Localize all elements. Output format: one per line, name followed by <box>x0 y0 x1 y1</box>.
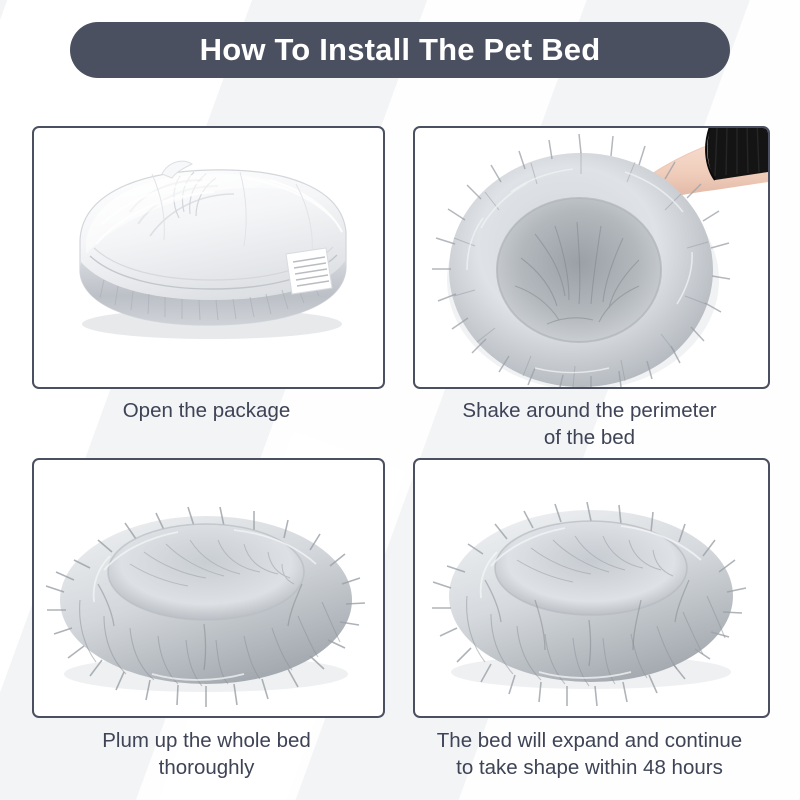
package-label <box>286 248 332 294</box>
page-title: How To Install The Pet Bed <box>200 32 601 68</box>
step-caption-3: Plum up the whole bed thoroughly <box>32 727 381 781</box>
caption-line: Open the package <box>32 397 381 424</box>
caption-line: Plum up the whole bed <box>32 727 381 754</box>
hand-shaking-pet-bed-image <box>415 128 768 387</box>
step-caption-1: Open the package <box>32 397 381 424</box>
step-card-4 <box>413 458 770 718</box>
step-card-1 <box>32 126 385 389</box>
caption-line: The bed will expand and continue <box>398 727 781 754</box>
step-caption-4: The bed will expand and continue to take… <box>398 727 781 781</box>
step-card-2 <box>413 126 770 389</box>
fluffed-pet-bed-image <box>34 460 383 716</box>
caption-line: thoroughly <box>32 754 381 781</box>
step-caption-2: Shake around the perimeter of the bed <box>405 397 774 451</box>
expanded-pet-bed-image <box>415 460 768 716</box>
caption-line: of the bed <box>405 424 774 451</box>
vacuum-packed-pet-bed-image <box>34 128 383 387</box>
caption-line: to take shape within 48 hours <box>398 754 781 781</box>
step-card-3 <box>32 458 385 718</box>
title-banner: How To Install The Pet Bed <box>70 22 730 78</box>
caption-line: Shake around the perimeter <box>405 397 774 424</box>
